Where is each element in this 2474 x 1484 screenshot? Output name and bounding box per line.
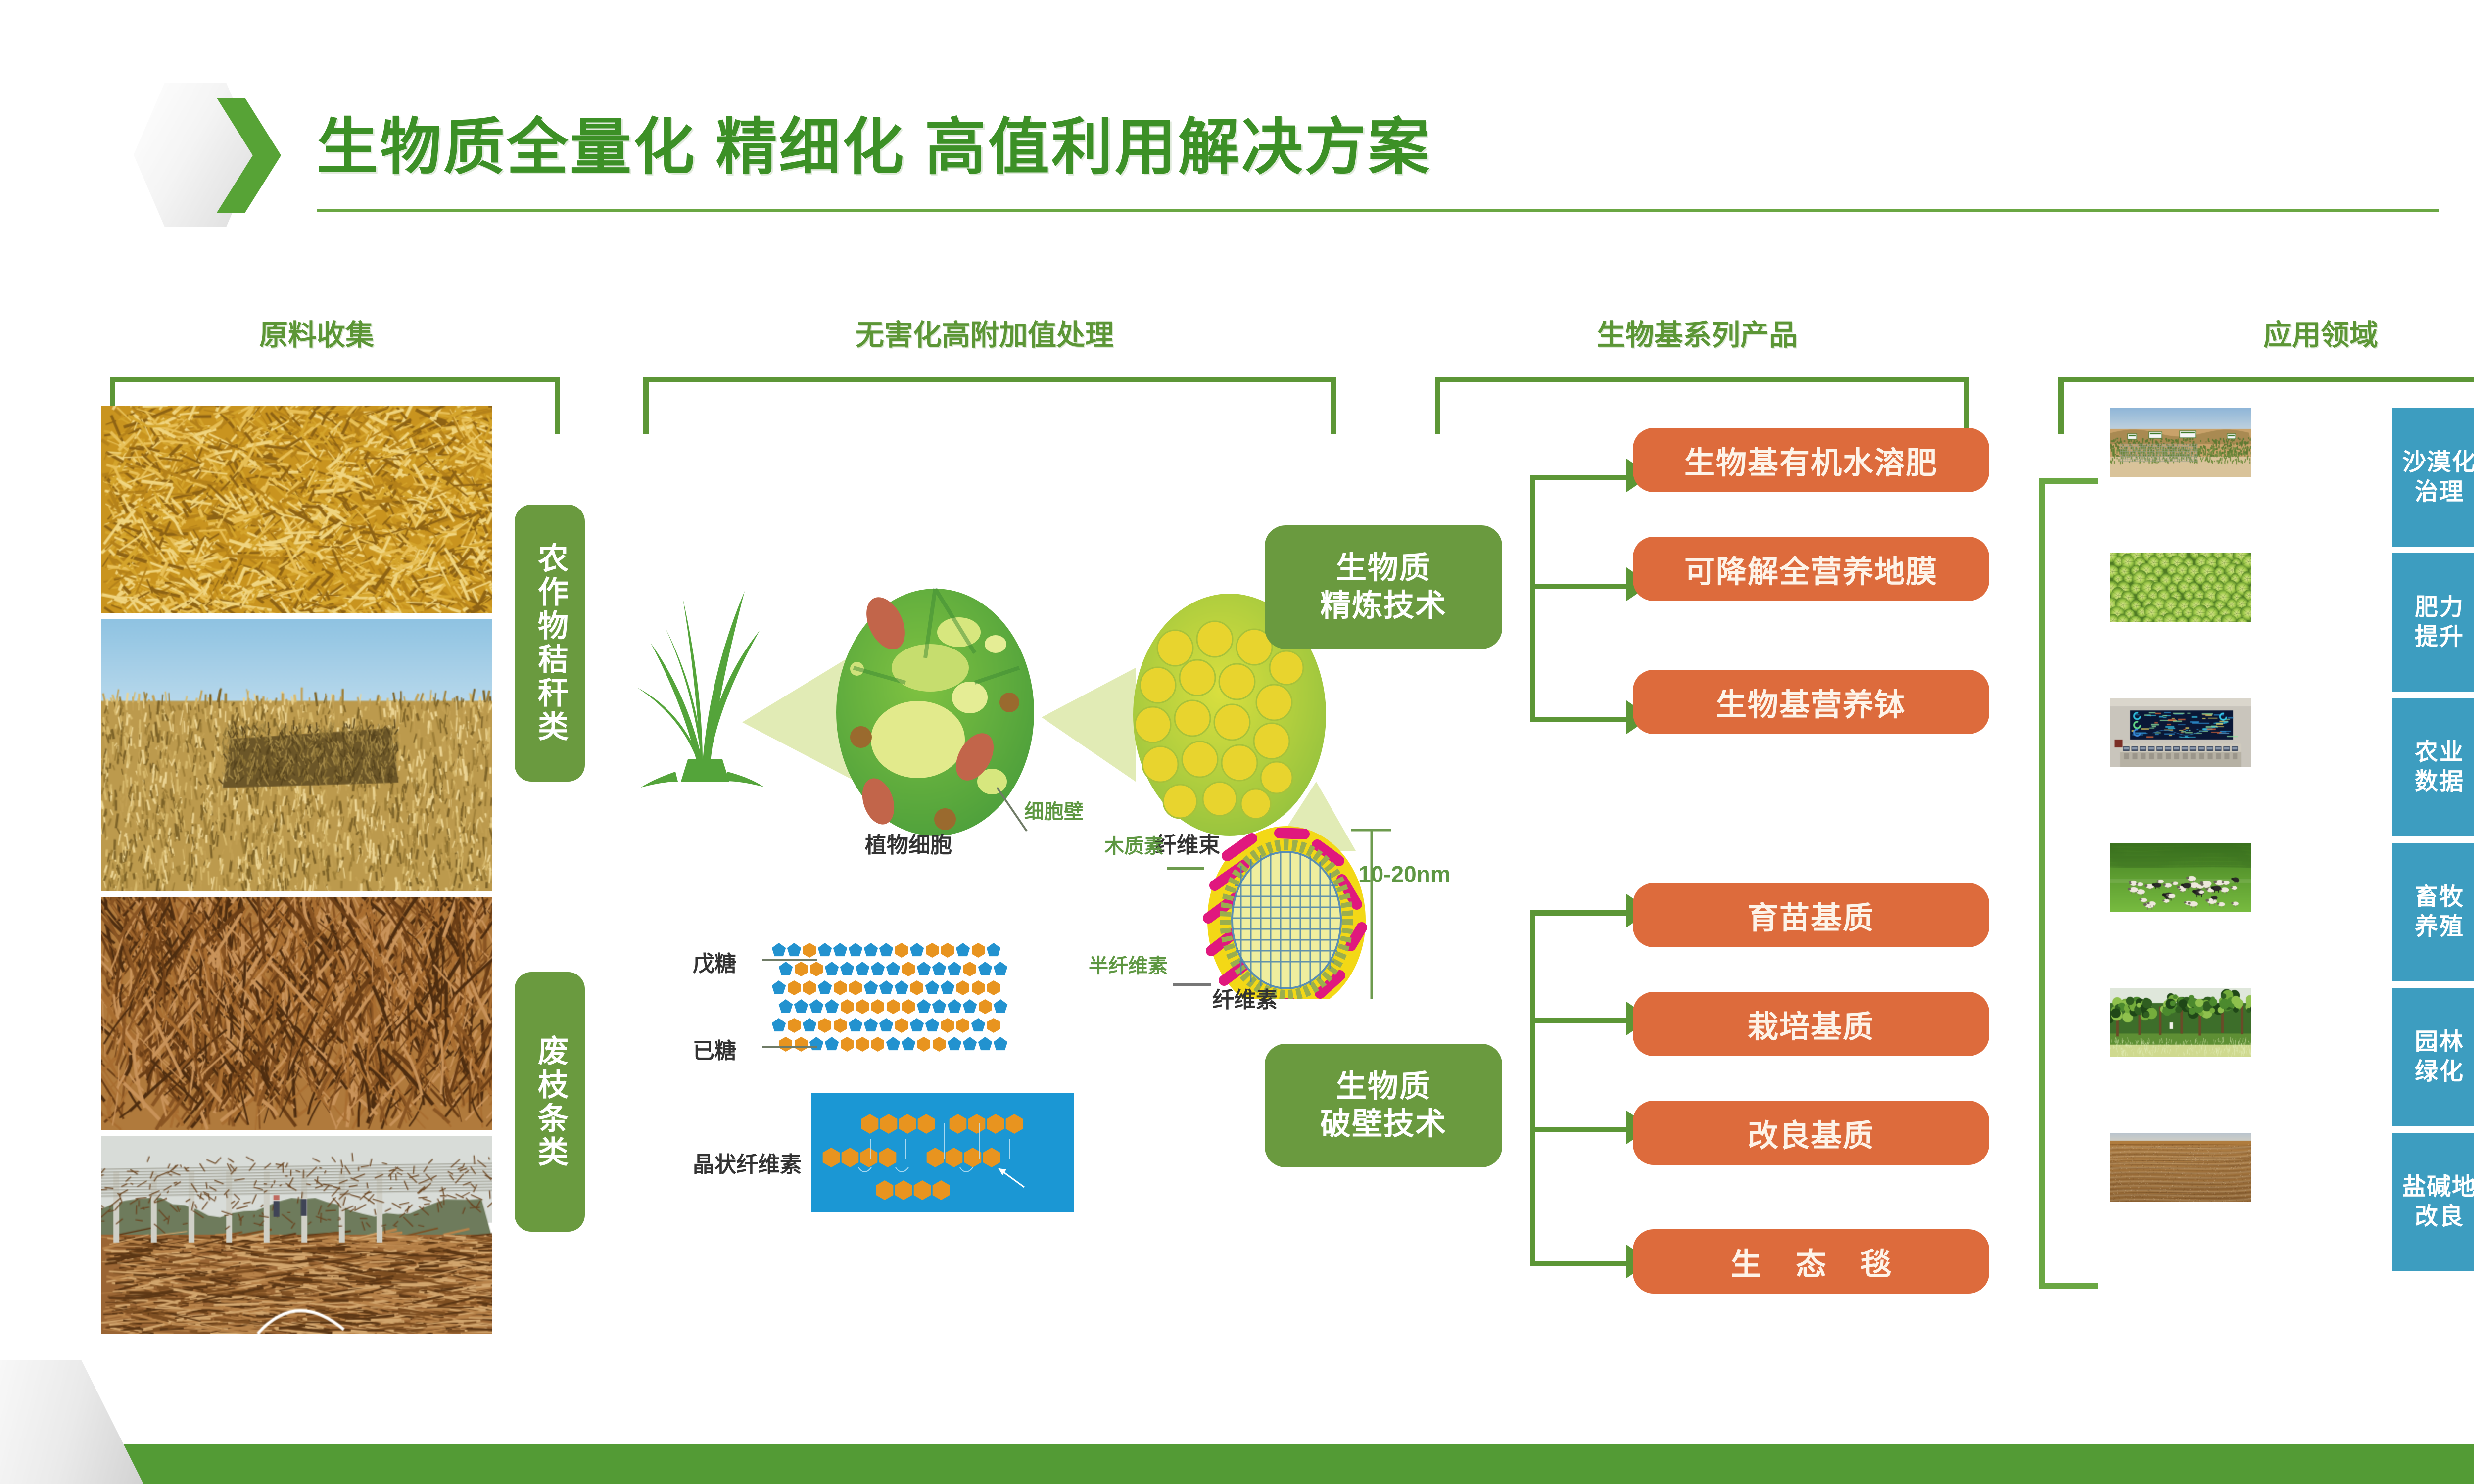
infographic-canvas: 生物质全量化 精细化 高值利用解决方案 原料收集 无害化高附加值处理 生物基系列… xyxy=(0,0,2474,1484)
app-tag-livestock: 畜牧 养殖 xyxy=(2392,843,2474,981)
connector-b-1 xyxy=(1530,910,1626,916)
app-row-livestock: 畜牧 养殖 xyxy=(2110,843,2474,981)
bracket-processing xyxy=(643,377,1336,434)
footer-bar xyxy=(0,1444,2474,1484)
desert-control-photo xyxy=(2110,408,2392,547)
connector-a-mid xyxy=(1530,584,1626,589)
app-row-desertification: 沙漠化 治理 xyxy=(2110,408,2474,547)
dry-branches-photo xyxy=(101,897,492,1130)
refining-tech-line1: 生物质 xyxy=(1336,550,1431,587)
app-data-line1: 农业 xyxy=(2415,738,2464,767)
connector-b-3 xyxy=(1530,1127,1626,1132)
app-row-saline-alkali: 盐碱地 改良 xyxy=(2110,1133,2474,1271)
app-landscaping-line1: 园林 xyxy=(2415,1027,2464,1057)
product-improvement-substrate: 改良基质 xyxy=(1633,1101,1989,1165)
breaking-tech-line2: 破壁技术 xyxy=(1320,1106,1447,1143)
cell-wall-breaking-tech-box: 生物质 破壁技术 xyxy=(1265,1044,1502,1167)
column-header-processing: 无害化高附加值处理 xyxy=(638,312,1331,353)
straw-bale-photo xyxy=(101,619,492,891)
app-saline-line2: 改良 xyxy=(2415,1202,2464,1232)
app-desertification-line2: 治理 xyxy=(2415,477,2464,507)
applications-bracket-top xyxy=(2039,478,2098,484)
bracket-bio-products xyxy=(1435,377,1969,434)
vineyard-pruning-photo xyxy=(101,1136,492,1334)
lignin-label: 木质素 xyxy=(1104,830,1164,859)
app-landscaping-line2: 绿化 xyxy=(2415,1057,2464,1087)
app-tag-soil-fertility: 肥力 提升 xyxy=(2392,553,2474,692)
column-header-raw-material: 原料收集 xyxy=(139,312,495,353)
grazing-sheep-photo xyxy=(2110,843,2392,981)
app-row-agri-data: 农业 数据 xyxy=(2110,698,2474,836)
park-trees-photo xyxy=(2110,988,2392,1126)
app-row-landscaping: 园林 绿化 xyxy=(2110,988,2474,1126)
pentose-leader xyxy=(762,959,817,961)
column-header-bio-products: 生物基系列产品 xyxy=(1405,312,1989,353)
cellulose-label: 纤维素 xyxy=(1212,982,1278,1014)
fibril-dimension-label: 10-20nm xyxy=(1358,861,1451,887)
product-nutrient-pot: 生物基营养钵 xyxy=(1633,670,1989,734)
applications-bracket-bottom xyxy=(2039,1283,2098,1289)
applications-bracket-stem xyxy=(2039,478,2045,1289)
app-saline-line1: 盐碱地 xyxy=(2402,1172,2474,1202)
sugar-chain-diagram xyxy=(772,937,1148,1086)
app-row-soil-fertility: 肥力 提升 xyxy=(2110,553,2474,692)
app-livestock-line2: 养殖 xyxy=(2415,912,2464,942)
product-biodegradable-mulch-film: 可降解全营养地膜 xyxy=(1633,537,1989,601)
pentose-label: 戊糖 xyxy=(693,946,736,977)
app-fertility-line2: 提升 xyxy=(2415,622,2464,652)
hexose-label: 已糖 xyxy=(693,1033,736,1065)
connector-b-2 xyxy=(1530,1018,1626,1023)
hexagon-chevron-logo xyxy=(134,83,282,227)
title-divider xyxy=(317,209,2439,212)
product-water-soluble-fertilizer: 生物基有机水溶肥 xyxy=(1633,428,1989,492)
connector-b-4 xyxy=(1530,1261,1626,1266)
column-header-applications: 应用领域 xyxy=(2058,312,2474,353)
breaking-tech-line1: 生物质 xyxy=(1336,1068,1431,1106)
waste-branch-pill: 废枝条类 xyxy=(515,972,585,1232)
page-title: 生物质全量化 精细化 高值利用解决方案 xyxy=(317,97,1431,186)
crop-straw-pill: 农作物秸秆类 xyxy=(515,505,585,782)
cabbage-field-photo xyxy=(2110,553,2392,692)
connector-bracket-a xyxy=(1530,475,1535,722)
data-center-photo xyxy=(2110,698,2392,836)
fiber-bundle-label: 纤维束 xyxy=(1155,827,1220,859)
refining-tech-box: 生物质 精炼技术 xyxy=(1265,525,1502,649)
connector-bracket-b xyxy=(1530,910,1535,1266)
app-desertification-line1: 沙漠化 xyxy=(2402,448,2474,477)
footer-wedge-decoration xyxy=(0,1360,143,1484)
connector-a-top xyxy=(1530,475,1626,480)
hexose-leader xyxy=(762,1046,817,1048)
corn-stover-photo xyxy=(101,406,492,613)
app-data-line2: 数据 xyxy=(2415,767,2464,797)
tilled-soil-photo xyxy=(2110,1133,2392,1271)
crystalline-cellulose-label: 晶状纤维素 xyxy=(693,1147,802,1178)
refining-tech-line2: 精炼技术 xyxy=(1320,587,1447,625)
product-cultivation-substrate: 栽培基质 xyxy=(1633,992,1989,1056)
connector-a-bottom xyxy=(1530,717,1626,722)
app-livestock-line1: 畜牧 xyxy=(2415,882,2464,912)
app-tag-saline-alkali: 盐碱地 改良 xyxy=(2392,1133,2474,1271)
product-ecological-blanket: 生 态 毯 xyxy=(1633,1229,1989,1294)
product-seedling-substrate: 育苗基质 xyxy=(1633,883,1989,947)
app-tag-landscaping: 园林 绿化 xyxy=(2392,988,2474,1126)
plant-cell-label: 植物细胞 xyxy=(865,827,952,859)
app-tag-desertification: 沙漠化 治理 xyxy=(2392,408,2474,547)
app-fertility-line1: 肥力 xyxy=(2415,593,2464,622)
grass-plant-icon xyxy=(637,591,764,788)
cell-wall-label: 细胞壁 xyxy=(1024,795,1084,824)
crystalline-cellulose-illustration xyxy=(811,1093,1074,1212)
app-tag-agri-data: 农业 数据 xyxy=(2392,698,2474,836)
